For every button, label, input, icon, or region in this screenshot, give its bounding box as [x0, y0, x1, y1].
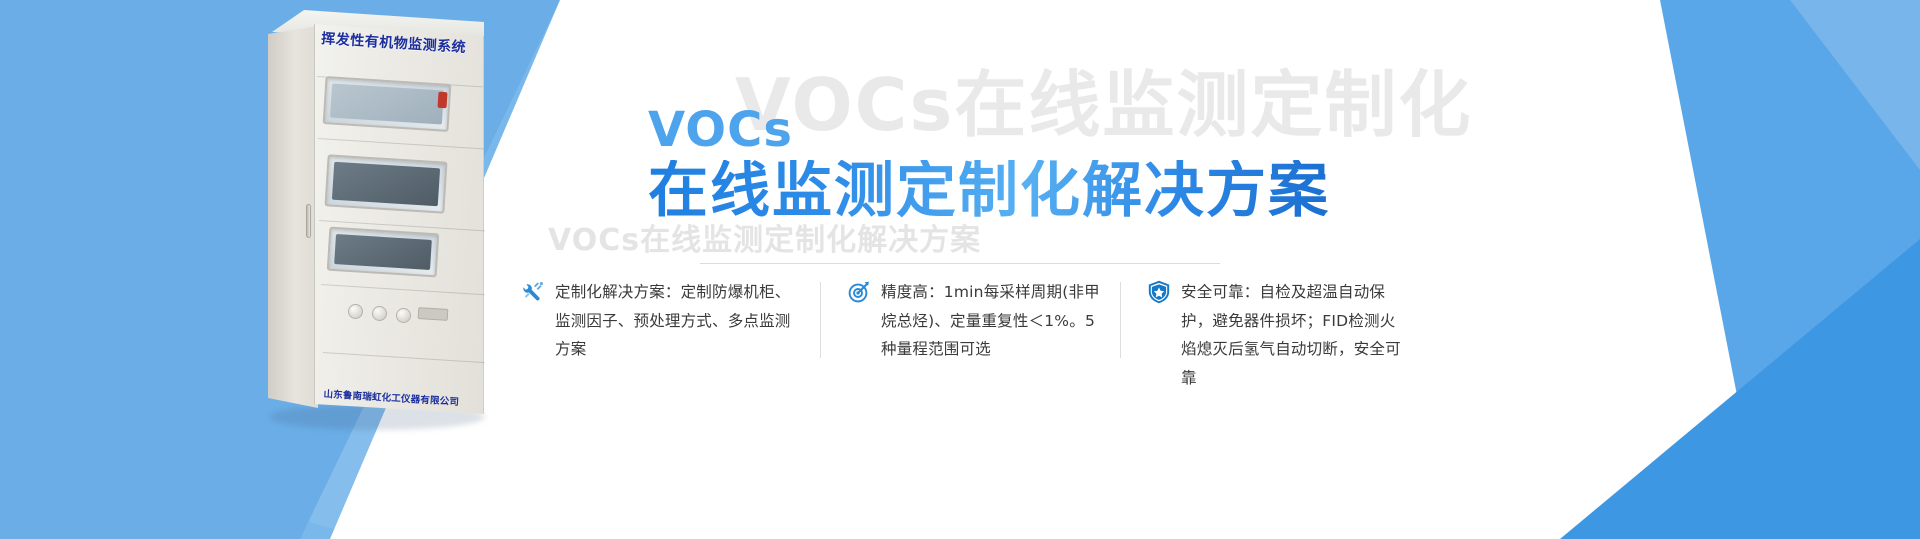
shield-star-icon [1146, 279, 1172, 305]
page-title: 在线监测定制化解决方案 [648, 160, 1330, 223]
cabinet-knob [396, 308, 411, 323]
cabinet-knob [372, 306, 387, 321]
feature-item-safety: 安全可靠：自检及超温自动保护，避免器件损坏；FID检测火焰熄灭后氢气自动切断，安… [1120, 278, 1420, 393]
feature-separator [820, 282, 821, 358]
feature-item-text: 精度高：1min每采样周期(非甲烷总烃)、定量重复性＜1%。5种量程范围可选 [881, 278, 1102, 364]
cabinet-screen [334, 234, 432, 270]
banner-root: VOCs在线监测定制化 VOCs在线监测定制化解决方案 VOCs 在线监测定制化… [0, 0, 1920, 539]
cabinet-door-handle [306, 204, 311, 238]
product-image-voc-cabinet: 挥发性有机物监测系统 山东鲁南瑞虹化工仪器有限公司 [262, 8, 492, 426]
cabinet-window-upper [323, 76, 452, 132]
tools-icon [520, 279, 546, 305]
feature-item-precision: 精度高：1min每采样周期(非甲烷总烃)、定量重复性＜1%。5种量程范围可选 [820, 278, 1120, 364]
cabinet-window-middle [324, 154, 447, 213]
target-arrow-icon [846, 279, 872, 305]
cabinet-knob [348, 304, 363, 319]
headline-block: VOCs 在线监测定制化解决方案 [648, 106, 1330, 223]
feature-item-text: 安全可靠：自检及超温自动保护，避免器件损坏；FID检测火焰熄灭后氢气自动切断，安… [1181, 278, 1402, 393]
feature-list: 定制化解决方案：定制防爆机柜、监测因子、预处理方式、多点监测方案 精度高：1mi… [520, 278, 1600, 393]
cabinet-screen [332, 162, 440, 207]
divider [700, 263, 1220, 264]
headline-eyebrow: VOCs [648, 106, 1330, 154]
cabinet-port [418, 307, 449, 321]
cabinet-window-lower [327, 227, 440, 278]
cabinet-screen [330, 84, 444, 125]
feature-item-customization: 定制化解决方案：定制防爆机柜、监测因子、预处理方式、多点监测方案 [520, 278, 820, 364]
cabinet-indicator-light [438, 92, 448, 109]
feature-item-text: 定制化解决方案：定制防爆机柜、监测因子、预处理方式、多点监测方案 [555, 278, 802, 364]
feature-separator [1120, 282, 1121, 358]
